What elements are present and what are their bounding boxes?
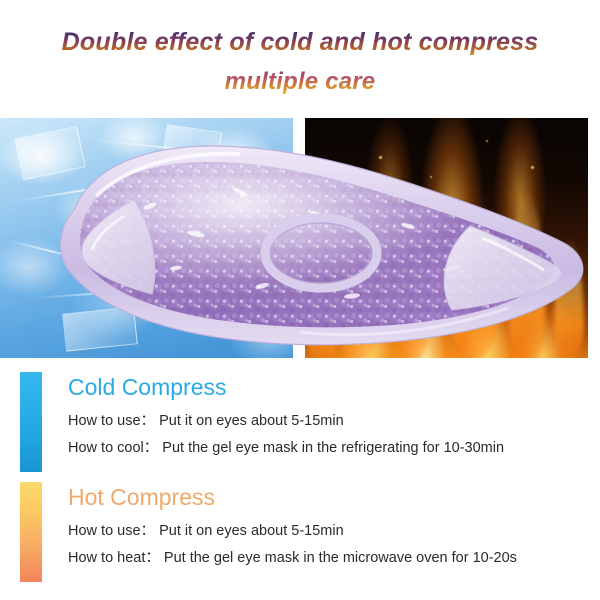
cold-photo-panel <box>0 118 293 358</box>
cold-how-to-use-label: How to use： <box>68 413 155 429</box>
hot-compress-section: Hot Compress How to use： Put it on eyes … <box>20 482 580 572</box>
cold-how-to-use-row: How to use： Put it on eyes about 5-15min <box>68 408 580 435</box>
title-line-1: Double effect of cold and hot compress <box>0 22 600 62</box>
hot-how-to-heat-row: How to heat： Put the gel eye mask in the… <box>68 545 580 572</box>
hot-how-to-use-label: How to use： <box>68 523 155 539</box>
product-photo-strip <box>0 118 600 358</box>
cold-how-to-cool-row: How to cool： Put the gel eye mask in the… <box>68 435 580 462</box>
hot-accent-bar <box>20 482 42 582</box>
cold-compress-section: Cold Compress How to use： Put it on eyes… <box>20 372 580 462</box>
hot-how-to-heat-value: Put the gel eye mask in the microwave ov… <box>164 550 517 566</box>
cold-compress-heading: Cold Compress <box>68 372 580 402</box>
hot-photo-panel <box>305 118 588 358</box>
cold-how-to-use-value: Put it on eyes about 5-15min <box>159 413 344 429</box>
hot-how-to-heat-label: How to heat： <box>68 550 160 566</box>
hot-how-to-use-row: How to use： Put it on eyes about 5-15min <box>68 518 580 545</box>
hot-compress-heading: Hot Compress <box>68 482 580 512</box>
cold-how-to-cool-label: How to cool： <box>68 440 158 456</box>
cold-how-to-cool-value: Put the gel eye mask in the refrigeratin… <box>162 440 504 456</box>
cold-accent-bar <box>20 372 42 472</box>
page-title: Double effect of cold and hot compress m… <box>0 22 600 102</box>
title-line-2: multiple care <box>0 62 600 102</box>
hot-how-to-use-value: Put it on eyes about 5-15min <box>159 523 344 539</box>
